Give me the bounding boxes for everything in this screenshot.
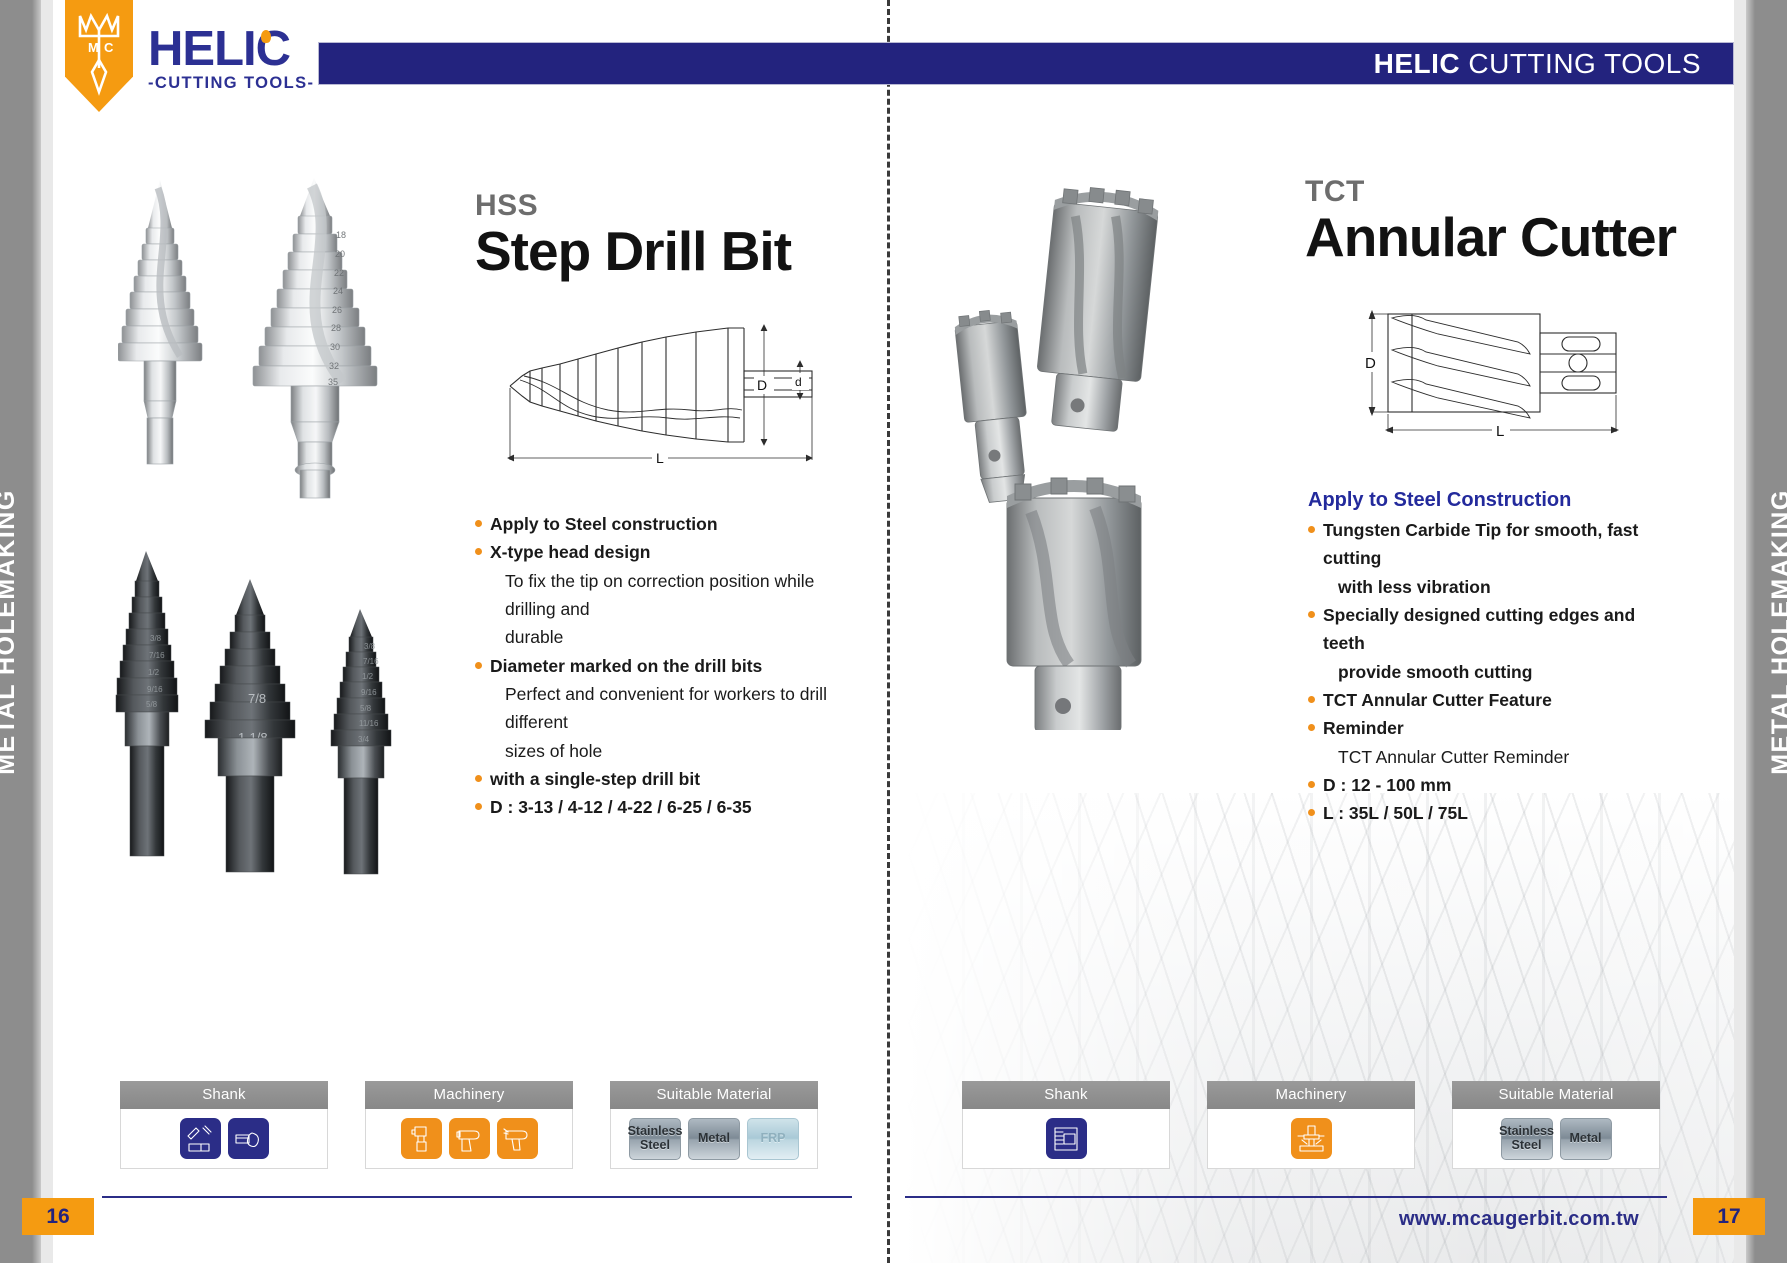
svg-text:5/8: 5/8 (360, 704, 372, 713)
header-banner-brand: HELIC (1374, 48, 1461, 79)
bullet-dot-icon (475, 803, 482, 810)
feature-bullet-item: Specially designed cutting edges and tee… (1308, 601, 1678, 658)
feature-sub-line: To fix the tip on correction position wh… (475, 567, 845, 624)
right-page-feature-list: Tungsten Carbide Tip for smooth, fast cu… (1308, 516, 1678, 828)
spec-icon-tile[interactable] (180, 1118, 221, 1159)
svg-text:9/16: 9/16 (361, 688, 377, 697)
header-banner: HELIC CUTTING TOOLS (318, 42, 1734, 85)
svg-text:18: 18 (336, 230, 346, 240)
left-rail-label: METAL HOLEMAKING (0, 489, 21, 775)
diagram-label-l: L (656, 450, 664, 466)
svg-text:32: 32 (329, 361, 339, 371)
material-chip: Metal (1560, 1118, 1612, 1160)
header-banner-text: HELIC CUTTING TOOLS (1374, 48, 1701, 80)
feature-bullet-item: X-type head design (475, 538, 845, 566)
feature-sub-line: with less vibration (1308, 573, 1678, 601)
spec-panel: Machinery (1207, 1081, 1415, 1169)
right-page-heading: TCT Annular Cutter (1305, 175, 1676, 267)
feature-text: with less vibration (1338, 573, 1491, 601)
svg-text:1/2: 1/2 (362, 672, 374, 681)
right-rail-label: METAL HOLEMAKING (1766, 489, 1787, 775)
feature-sub-line: provide smooth cutting (1308, 658, 1678, 686)
step-drill-silver-photo: 182022 242628 303235 (118, 170, 448, 510)
website-url[interactable]: www.mcaugerbit.com.tw (1399, 1208, 1639, 1231)
step-drill-technical-diagram: D d L (500, 318, 820, 468)
feature-text: D : 3-13 / 4-12 / 4-22 / 6-25 / 6-35 (490, 793, 752, 821)
svg-text:9/16: 9/16 (147, 685, 163, 694)
feature-text: Apply to Steel construction (490, 510, 718, 538)
feature-bullet-item: Diameter marked on the drill bits (475, 652, 845, 680)
svg-text:3/4: 3/4 (358, 735, 370, 744)
diagram-label-d-lower: d (795, 375, 802, 389)
brand-tagline: -CUTTING TOOLS- (148, 74, 314, 93)
brand-name: HELIC (148, 26, 314, 73)
left-page-number-tab: 16 (22, 1198, 94, 1235)
feature-bullet-item: Reminder (1308, 714, 1678, 742)
svg-text:1/2: 1/2 (148, 668, 160, 677)
feature-sub-line: TCT Annular Cutter Reminder (1308, 743, 1678, 771)
svg-text:22: 22 (334, 268, 344, 278)
feature-bullet-item: D : 3-13 / 4-12 / 4-22 / 6-25 / 6-35 (475, 793, 845, 821)
svg-text:7/16: 7/16 (149, 651, 165, 660)
magnetic-drill-icon (1296, 1124, 1326, 1154)
feature-text: with a single-step drill bit (490, 765, 700, 793)
diagram-label-d: D (1365, 355, 1376, 372)
spec-icon-tile[interactable] (449, 1118, 490, 1159)
svg-text:28: 28 (331, 323, 341, 333)
spec-icon-tile[interactable] (1046, 1118, 1087, 1159)
diagram-label-d-upper: D (757, 377, 767, 393)
feature-text: TCT Annular Cutter Feature (1323, 686, 1552, 714)
spec-panel-body (365, 1109, 573, 1169)
feature-text: Specially designed cutting edges and tee… (1323, 601, 1678, 658)
corded-drill-icon (502, 1124, 532, 1154)
left-side-rail: METAL HOLEMAKING (0, 0, 41, 1263)
bullet-dot-icon (475, 520, 482, 527)
feature-sub-line: Perfect and convenient for workers to dr… (475, 680, 845, 737)
bullet-dot-icon (1308, 526, 1315, 533)
svg-text:26: 26 (332, 305, 342, 315)
bullet-dot-icon (475, 548, 482, 555)
left-page-heading: HSS Step Drill Bit (475, 189, 791, 281)
left-page-kicker: HSS (475, 189, 791, 223)
spec-panel-body (962, 1109, 1170, 1169)
bullet-dot-icon (1308, 611, 1315, 618)
spec-panel-title: Suitable Material (1452, 1081, 1660, 1109)
feature-text: Diameter marked on the drill bits (490, 652, 762, 680)
feature-text: TCT Annular Cutter Reminder (1338, 743, 1569, 771)
right-page-spec-panels: ShankMachinerySuitable MaterialStainless… (962, 1081, 1660, 1169)
weldon-shank-icon (1051, 1124, 1081, 1154)
svg-text:7/8: 7/8 (248, 691, 266, 706)
crown-mark-icon: M C (76, 10, 122, 96)
svg-text:7/16: 7/16 (363, 657, 379, 666)
spec-panel: Suitable MaterialStainlessSteelMetalFRP (610, 1081, 818, 1169)
bullet-dot-icon (475, 775, 482, 782)
bullet-dot-icon (1308, 781, 1315, 788)
impact-driver-icon (406, 1124, 436, 1154)
feature-bullet-item: TCT Annular Cutter Feature (1308, 686, 1678, 714)
spec-panel: Shank (120, 1081, 328, 1169)
svg-text:20: 20 (335, 249, 345, 259)
feature-text: Perfect and convenient for workers to dr… (505, 680, 845, 737)
spec-icon-tile[interactable] (1291, 1118, 1332, 1159)
feature-text: D : 12 - 100 mm (1323, 771, 1451, 799)
left-footer-rule (102, 1196, 852, 1198)
catalog-spread: METAL HOLEMAKING METAL HOLEMAKING M C HE… (0, 0, 1787, 1263)
bullet-dot-icon (475, 662, 482, 669)
spec-icon-tile[interactable] (228, 1118, 269, 1159)
bullet-dot-icon (1308, 724, 1315, 731)
right-rail-gap (1734, 0, 1746, 1263)
right-page-number: 17 (1717, 1205, 1740, 1229)
feature-text: L : 35L / 50L / 75L (1323, 799, 1468, 827)
spec-panel-title: Suitable Material (610, 1081, 818, 1109)
spec-panel: Shank (962, 1081, 1170, 1169)
material-chip-line: FRP (761, 1132, 786, 1145)
feature-sub-line: durable (475, 623, 845, 651)
spec-panel-title: Machinery (365, 1081, 573, 1109)
spread-center-fold (887, 0, 890, 1263)
left-page-number: 16 (46, 1205, 69, 1229)
spec-panel-title: Shank (962, 1081, 1170, 1109)
feature-bullet-item: with a single-step drill bit (475, 765, 845, 793)
left-page-title: Step Drill Bit (475, 223, 791, 281)
svg-text:11/16: 11/16 (359, 719, 379, 728)
cordless-drill-icon (454, 1124, 484, 1154)
bullet-dot-icon (1308, 696, 1315, 703)
brand-i-dot-icon (261, 30, 271, 43)
material-chip: Metal (688, 1118, 740, 1160)
spec-panel: Suitable MaterialStainlessSteelMetal (1452, 1081, 1660, 1169)
right-page-feature-block: Apply to Steel Construction Tungsten Car… (1308, 489, 1678, 828)
material-chip: StainlessSteel (1501, 1118, 1553, 1160)
spec-panel: Machinery (365, 1081, 573, 1169)
background-construction-photo (904, 793, 1734, 1263)
annular-cutter-photos (945, 170, 1285, 730)
hex-shank-icon (185, 1124, 215, 1154)
material-chip: FRP (747, 1118, 799, 1160)
svg-text:3/8: 3/8 (150, 634, 162, 643)
feature-text: Tungsten Carbide Tip for smooth, fast cu… (1323, 516, 1678, 573)
svg-text:3/8: 3/8 (364, 642, 376, 651)
annular-cutter-technical-diagram: D L (1340, 300, 1640, 445)
feature-text: To fix the tip on correction position wh… (505, 567, 845, 624)
feature-text: Reminder (1323, 714, 1404, 742)
material-chip-line: Metal (1570, 1132, 1602, 1145)
spec-panel-title: Shank (120, 1081, 328, 1109)
material-chip-line: Stainless (628, 1125, 683, 1138)
bullet-dot-icon (1308, 809, 1315, 816)
feature-bullet-item: Tungsten Carbide Tip for smooth, fast cu… (1308, 516, 1678, 573)
feature-sub-line: sizes of hole (475, 737, 845, 765)
svg-text:C: C (104, 40, 114, 55)
material-chip-line: Steel (640, 1139, 670, 1152)
feature-bullet-item: D : 12 - 100 mm (1308, 771, 1678, 799)
svg-text:24: 24 (333, 286, 343, 296)
spec-panel-body: StainlessSteelMetalFRP (610, 1109, 818, 1169)
material-chip: StainlessSteel (629, 1118, 681, 1160)
right-page-title: Annular Cutter (1305, 209, 1676, 267)
feature-text: durable (505, 623, 563, 651)
helic-shield-logo: M C (65, 0, 133, 112)
svg-text:30: 30 (330, 342, 340, 352)
right-side-rail: METAL HOLEMAKING (1746, 0, 1787, 1263)
straight-shank-icon (233, 1124, 263, 1154)
svg-text:M: M (88, 40, 99, 55)
header-banner-rest: CUTTING TOOLS (1460, 48, 1701, 79)
right-page-number-tab: 17 (1693, 1198, 1765, 1235)
svg-text:5/8: 5/8 (146, 700, 158, 709)
spec-icon-tile[interactable] (497, 1118, 538, 1159)
left-page-feature-list: Apply to Steel constructionX-type head d… (475, 510, 845, 822)
material-chip-line: Stainless (1499, 1125, 1554, 1138)
spec-panel-body (120, 1109, 328, 1169)
feature-text: provide smooth cutting (1338, 658, 1532, 686)
spec-panel-title: Machinery (1207, 1081, 1415, 1109)
svg-text:35: 35 (328, 377, 338, 387)
step-drill-black-photo: 3/87/161/2 9/165/8 7/81-1/8 (110, 545, 450, 925)
diagram-label-l: L (1496, 423, 1504, 440)
feature-bullet-item: Apply to Steel construction (475, 510, 845, 538)
brand-lockup: HELIC -CUTTING TOOLS- (148, 26, 314, 93)
feature-bullet-item: L : 35L / 50L / 75L (1308, 799, 1678, 827)
left-page-spec-panels: ShankMachinerySuitable MaterialStainless… (120, 1081, 818, 1169)
right-section-heading: Apply to Steel Construction (1308, 489, 1678, 512)
material-chip-line: Metal (698, 1132, 730, 1145)
spec-panel-body (1207, 1109, 1415, 1169)
spec-icon-tile[interactable] (401, 1118, 442, 1159)
spec-panel-body: StainlessSteelMetal (1452, 1109, 1660, 1169)
feature-text: X-type head design (490, 538, 650, 566)
left-rail-gap (41, 0, 53, 1263)
material-chip-line: Steel (1512, 1139, 1542, 1152)
right-footer-rule (905, 1196, 1667, 1198)
right-page-kicker: TCT (1305, 175, 1676, 209)
feature-text: sizes of hole (505, 737, 602, 765)
